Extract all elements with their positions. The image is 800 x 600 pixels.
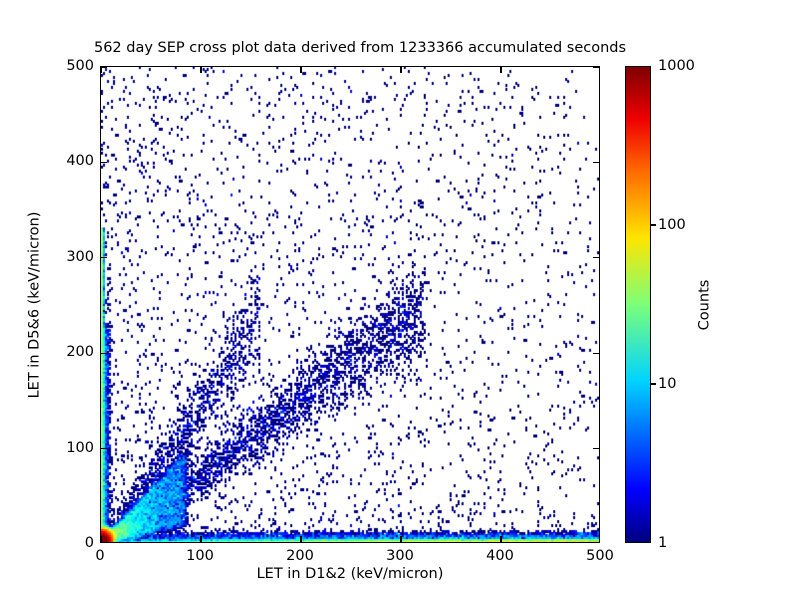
y-tick-mark [593, 448, 599, 449]
x-tick-label: 0 [95, 548, 104, 564]
y-tick-label: 100 [66, 440, 94, 456]
colorbar-tick-mark [651, 383, 656, 384]
plot-area [100, 66, 600, 543]
x-tick-mark [100, 536, 101, 542]
y-tick-mark [593, 66, 599, 67]
y-axis-label: LET in D5&6 (keV/micron) [24, 66, 44, 543]
figure-canvas: 562 day SEP cross plot data derived from… [0, 0, 800, 600]
colorbar-label: Counts [694, 66, 714, 543]
x-tick-label: 500 [586, 548, 614, 564]
y-tick-label: 400 [66, 153, 94, 169]
y-tick-mark [593, 257, 599, 258]
y-tick-mark [593, 162, 599, 163]
x-tick-mark [200, 67, 201, 73]
x-tick-label: 300 [386, 548, 414, 564]
x-tick-mark [400, 67, 401, 73]
x-axis-label: LET in D1&2 (keV/micron) [100, 566, 600, 582]
y-tick-mark [593, 353, 599, 354]
title-line-1: 562 day SEP cross plot data derived from… [0, 40, 720, 57]
x-tick-mark [400, 536, 401, 542]
x-tick-mark [200, 536, 201, 542]
x-tick-mark [100, 67, 101, 73]
colorbar-tick-label: 100 [658, 217, 686, 233]
y-tick-mark [101, 353, 107, 354]
x-tick-label: 200 [286, 548, 314, 564]
y-tick-label: 0 [85, 535, 94, 551]
y-axis-label-text: LET in D5&6 (keV/micron) [26, 211, 42, 398]
y-tick-mark [101, 257, 107, 258]
colorbar-gradient [626, 67, 650, 542]
colorbar-tick-label: 1 [658, 535, 667, 551]
x-tick-mark [500, 67, 501, 73]
x-tick-mark [500, 536, 501, 542]
scatter-density-plot [101, 67, 599, 542]
x-tick-label: 100 [186, 548, 214, 564]
y-tick-label: 500 [66, 58, 94, 74]
colorbar [625, 66, 651, 543]
y-tick-mark [101, 162, 107, 163]
y-tick-mark [101, 66, 107, 67]
y-tick-label: 300 [66, 249, 94, 265]
y-tick-mark [101, 448, 107, 449]
x-tick-label: 400 [486, 548, 514, 564]
colorbar-tick-label: 10 [658, 376, 676, 392]
x-tick-mark [300, 67, 301, 73]
colorbar-tick-mark [651, 224, 656, 225]
y-tick-label: 200 [66, 344, 94, 360]
colorbar-tick-label: 1000 [658, 58, 695, 74]
colorbar-label-text: Counts [696, 279, 712, 330]
x-tick-mark [300, 536, 301, 542]
